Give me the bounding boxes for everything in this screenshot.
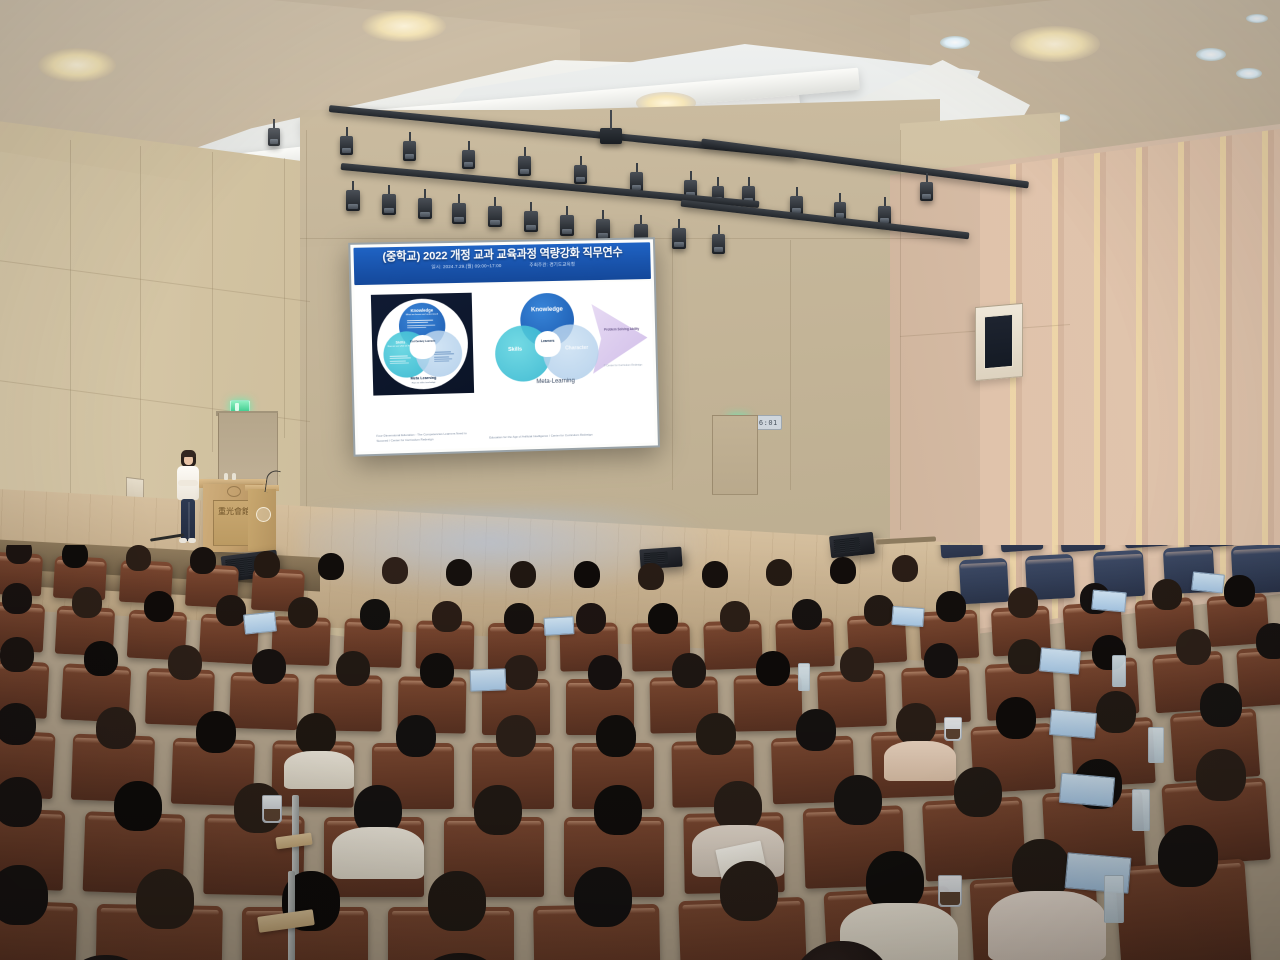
drink-cup	[938, 875, 962, 907]
wall-seam	[900, 130, 901, 530]
attendee-head	[638, 563, 664, 590]
attendee-head	[420, 653, 454, 688]
attendee-head	[864, 595, 894, 626]
attendee-head	[1256, 623, 1280, 659]
venn-right-center-overlap	[535, 331, 561, 358]
stage-light-fixture	[560, 215, 574, 236]
attendee-head	[428, 871, 486, 931]
slide-footnote-right: Education for the Age of Artificial Inte…	[489, 432, 598, 440]
attendee-head	[1008, 587, 1038, 618]
ceiling-speaker	[600, 128, 622, 144]
attendee-head	[432, 601, 462, 632]
attendee-head	[136, 869, 194, 929]
stage-light-fixture	[418, 198, 432, 219]
attendee-head	[510, 561, 536, 588]
attendee-head	[840, 647, 874, 682]
attendee-head	[6, 545, 32, 564]
water-bottle	[1112, 655, 1126, 687]
wall-seam	[212, 152, 213, 452]
attendee-laptop	[891, 606, 924, 627]
attendee-head	[830, 557, 856, 584]
stage-light-fixture	[524, 211, 538, 232]
attendee-head	[896, 703, 936, 745]
attendee-laptop	[544, 616, 575, 636]
attendee-head	[1176, 629, 1211, 665]
attendee-head	[336, 651, 370, 686]
attendee-head	[924, 643, 958, 678]
attendee-head	[144, 591, 174, 622]
attendee-laptop	[1049, 709, 1097, 739]
wall-seam	[790, 240, 791, 490]
venn-diagram-left: Knowledge What we know and understand Sk…	[371, 293, 474, 396]
attendee-head	[834, 775, 882, 825]
venn-left-character-bullets	[434, 350, 456, 363]
ceiling-spotlight	[1196, 48, 1226, 61]
attendee-head	[720, 601, 750, 632]
stage-light-fixture	[518, 156, 531, 176]
attendee-head	[504, 655, 538, 690]
attendee-head	[0, 637, 34, 672]
attendee-head	[1152, 579, 1182, 610]
stage-light-fixture	[596, 219, 610, 240]
venn-right-skills-label: Skills	[495, 347, 535, 353]
attendee-head	[446, 559, 472, 586]
attendee-head	[996, 697, 1036, 739]
attendee-head	[252, 649, 286, 684]
attendee-laptop	[1059, 773, 1115, 808]
water-bottle	[798, 663, 810, 691]
door-right	[712, 415, 758, 495]
attendee-laptop	[1091, 590, 1127, 613]
stage-light-fixture	[346, 190, 360, 211]
attendee-head	[288, 597, 318, 628]
attendee-head	[574, 561, 600, 588]
attendee-head	[360, 599, 390, 630]
attendee-head	[0, 703, 36, 745]
attendee-head	[216, 595, 246, 626]
stage-light-fixture	[382, 194, 396, 215]
attendee-head	[296, 713, 336, 755]
venn-right-center-label: Learners	[535, 340, 561, 344]
seat-row-far	[959, 558, 1009, 604]
stage-light-fixture	[268, 128, 280, 146]
attendee-head	[318, 553, 344, 580]
attendee-head	[1196, 749, 1246, 801]
attendee-head	[936, 591, 966, 622]
venn-left-center-label: 21st Century Learners	[409, 340, 435, 344]
venn-left-center-overlap	[409, 335, 436, 360]
ceiling-spotlight	[1246, 14, 1268, 23]
attendee-head	[196, 711, 236, 753]
water-bottle	[1148, 727, 1164, 763]
attendee-head	[1008, 639, 1042, 674]
speaker-drop-pipe	[610, 110, 612, 130]
stage-light-fixture	[574, 165, 587, 184]
attendee-head	[766, 559, 792, 586]
stage-light-fixture	[340, 136, 353, 155]
ceiling-spotlight	[940, 36, 970, 49]
attendee-head	[0, 865, 48, 925]
attendee-head	[168, 645, 202, 680]
venn-diagram-right: Problem Solving Ability Knowledge Skills…	[482, 289, 651, 397]
attendee-head	[954, 767, 1002, 817]
attendee-head	[1200, 683, 1242, 727]
drink-cup	[262, 795, 282, 823]
attendee-shoulders	[988, 891, 1106, 960]
attendee-shoulders	[284, 751, 354, 789]
attendee-head	[62, 545, 88, 568]
attendee-head	[648, 603, 678, 634]
attendee-laptop	[1039, 647, 1081, 674]
attendee-head	[504, 603, 534, 634]
attendee-head	[596, 715, 636, 757]
wall-seam	[672, 240, 673, 490]
ceiling-spotlight	[1236, 68, 1262, 79]
venn-right-character-label: Character	[557, 346, 597, 352]
attendee-head	[714, 781, 762, 831]
attendee-head	[576, 603, 606, 634]
attendee-head	[672, 653, 706, 688]
stage-light-fixture	[672, 228, 686, 249]
attendee-head	[1012, 839, 1070, 899]
attendee-head	[792, 599, 822, 630]
venn-left-meta-sub: How we reflect and adapt	[393, 381, 454, 385]
attendee-head	[96, 707, 136, 749]
attendee-head	[114, 781, 162, 831]
venn-right-knowledge-label: Knowledge	[520, 306, 574, 313]
attendee-head	[396, 715, 436, 757]
projection-screen: (중학교) 2022 개정 교과 교육과정 역량강화 직무연수 일시: 2024…	[348, 237, 660, 456]
attendee-head	[1096, 691, 1136, 733]
auditorium-scene: 16:01 (중학교) 2022 개정 교과 교육과정 역량강화 직무연수 일	[0, 0, 1280, 960]
ceiling-downlight	[362, 10, 446, 42]
attendee-head	[796, 709, 836, 751]
seat-row-far	[999, 545, 1044, 552]
ceiling-downlight	[1010, 26, 1100, 62]
drink-cup	[944, 717, 962, 741]
venn-left-skills-bullets	[390, 354, 412, 365]
attendee-head	[2, 583, 32, 614]
attendee-head	[190, 547, 216, 574]
stage-light-fixture	[488, 206, 502, 227]
stage-light-fixture	[462, 150, 475, 169]
projected-slide: (중학교) 2022 개정 교과 교육과정 역량강화 직무연수 일시: 2024…	[350, 239, 658, 454]
attendee-head	[720, 861, 778, 921]
venn-left-white-disc: Knowledge What we know and understand Sk…	[376, 298, 469, 391]
water-bottle	[1132, 789, 1150, 831]
seat-row-far	[1123, 545, 1170, 548]
attendee-laptop	[1191, 571, 1225, 593]
attendee-head	[72, 587, 102, 618]
slide-subtitle-right: 주최주관: 경기도교육청	[529, 262, 575, 269]
attendee-head	[588, 655, 622, 690]
stage-light-fixture	[712, 234, 725, 254]
attendee-head	[696, 713, 736, 755]
attendee-head	[702, 561, 728, 588]
attendee-laptop	[470, 668, 507, 691]
podium-emblem	[256, 507, 271, 522]
stage-light-fixture	[403, 141, 416, 161]
venn-left-knowledge-bullets	[407, 319, 437, 330]
attendee-head	[594, 785, 642, 835]
attendee-head	[1158, 825, 1218, 887]
wall-seam	[306, 130, 307, 530]
podium-side-lectern	[248, 489, 276, 551]
attendee-head	[382, 557, 408, 584]
audience-area	[0, 545, 1280, 960]
attendee-head	[0, 777, 42, 827]
ceiling-downlight	[38, 48, 116, 82]
slide-body: Knowledge What we know and understand Sk…	[354, 281, 654, 452]
attendee-head	[84, 641, 118, 676]
attendee-head	[474, 785, 522, 835]
attendee-shoulders	[884, 741, 956, 781]
attendee-head	[756, 651, 790, 686]
attendee-laptop	[243, 611, 277, 634]
attendee-head	[574, 867, 632, 927]
attendee-shoulders	[332, 827, 424, 879]
stage-light-fixture	[452, 203, 466, 224]
attendee-head	[866, 851, 924, 911]
attendee-head	[1224, 575, 1255, 607]
arrow-label: Problem Solving Ability	[602, 327, 642, 333]
attendee-head	[254, 551, 280, 578]
slide-footnote-left: Four-Dimensional Education - The Compete…	[376, 431, 477, 443]
wall-speaker-box	[975, 303, 1023, 381]
attendee-head	[892, 555, 918, 582]
attendee-head	[126, 545, 151, 571]
seat-row-far	[939, 545, 984, 558]
water-bottle	[1104, 875, 1124, 923]
microphone-pair	[224, 473, 237, 480]
venn-right-credit: © Center for Curriculum Redesign	[604, 363, 643, 367]
attendee-head	[496, 715, 536, 757]
stage-light-fixture	[920, 182, 933, 201]
